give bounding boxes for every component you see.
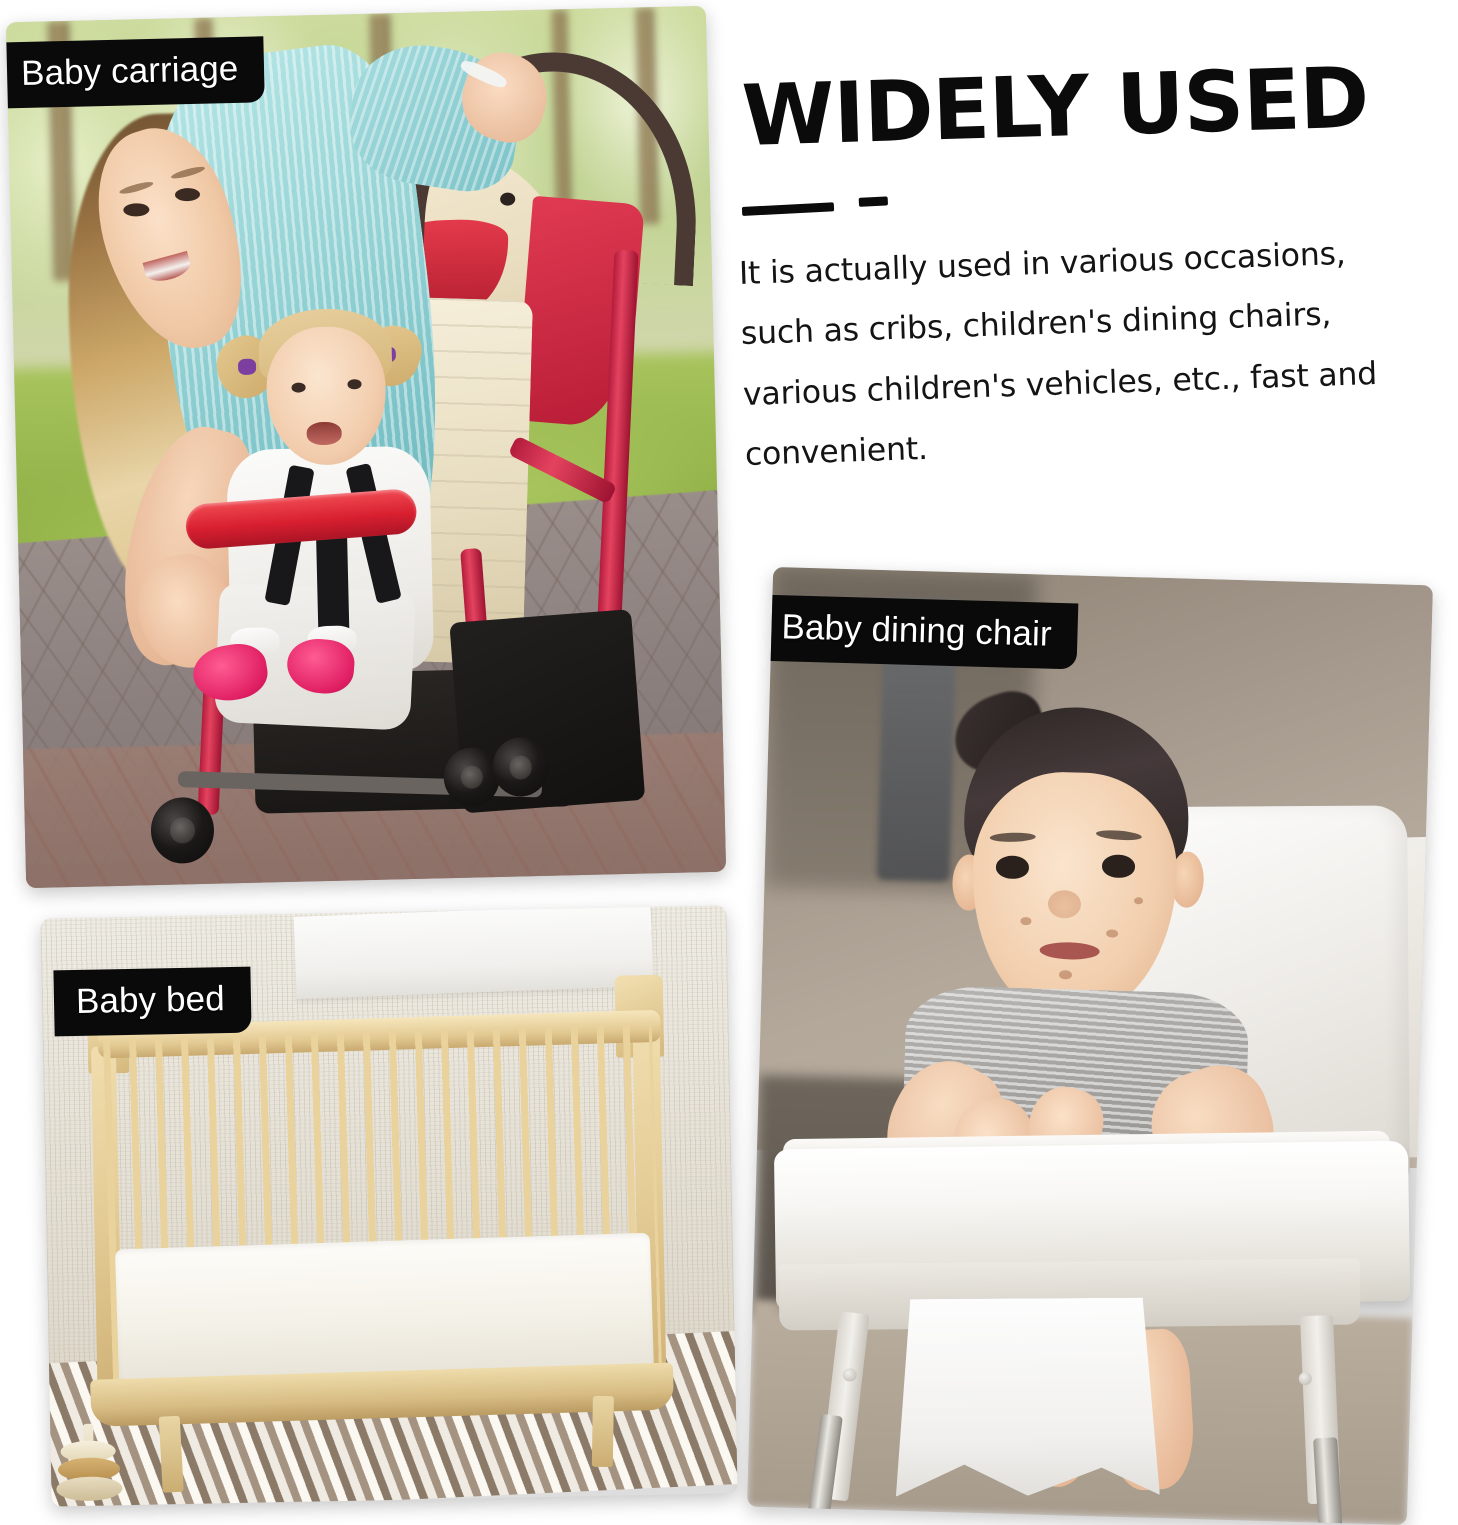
photo-label-baby-dining-chair: Baby dining chair [759,595,1079,670]
wall-shelf [294,905,653,999]
description-text: It is actually used in various occasions… [738,222,1414,486]
child-eye [291,383,305,393]
crib-leg [158,1416,183,1493]
photo-baby-dining-chair-scene [747,567,1433,1525]
crib-leg [592,1396,614,1467]
hair-bow-icon [238,359,257,375]
photo-baby-carriage: Baby carriage [6,6,726,888]
text-column: WIDELY USED It is actually used in vario… [742,74,1442,486]
chair-bolt [1298,1372,1312,1386]
page-title: WIDELY USED [741,53,1443,158]
food-crumb [1021,917,1032,925]
infographic-canvas: Baby carriage Baby bed [0,0,1458,1500]
toddler-eye [996,855,1030,878]
divider-short-dash [859,196,888,206]
food-crumb [1106,929,1118,938]
mother-eye [124,203,149,217]
child-eye [347,380,361,390]
photo-label-baby-carriage: Baby carriage [6,36,265,108]
child-mouth [306,422,342,445]
title-divider [741,171,1442,226]
divider-long-dash [742,202,834,216]
high-chair-seat-cover [895,1297,1160,1496]
toddler-eye [1101,854,1135,877]
photo-baby-bed: Baby bed [40,905,737,1506]
high-chair-leg-chrome [1313,1438,1342,1525]
photo-baby-dining-chair: Baby dining chair [747,567,1433,1525]
photo-baby-carriage-scene [6,6,726,888]
chair-bolt [843,1368,857,1382]
photo-label-baby-bed: Baby bed [53,967,251,1037]
